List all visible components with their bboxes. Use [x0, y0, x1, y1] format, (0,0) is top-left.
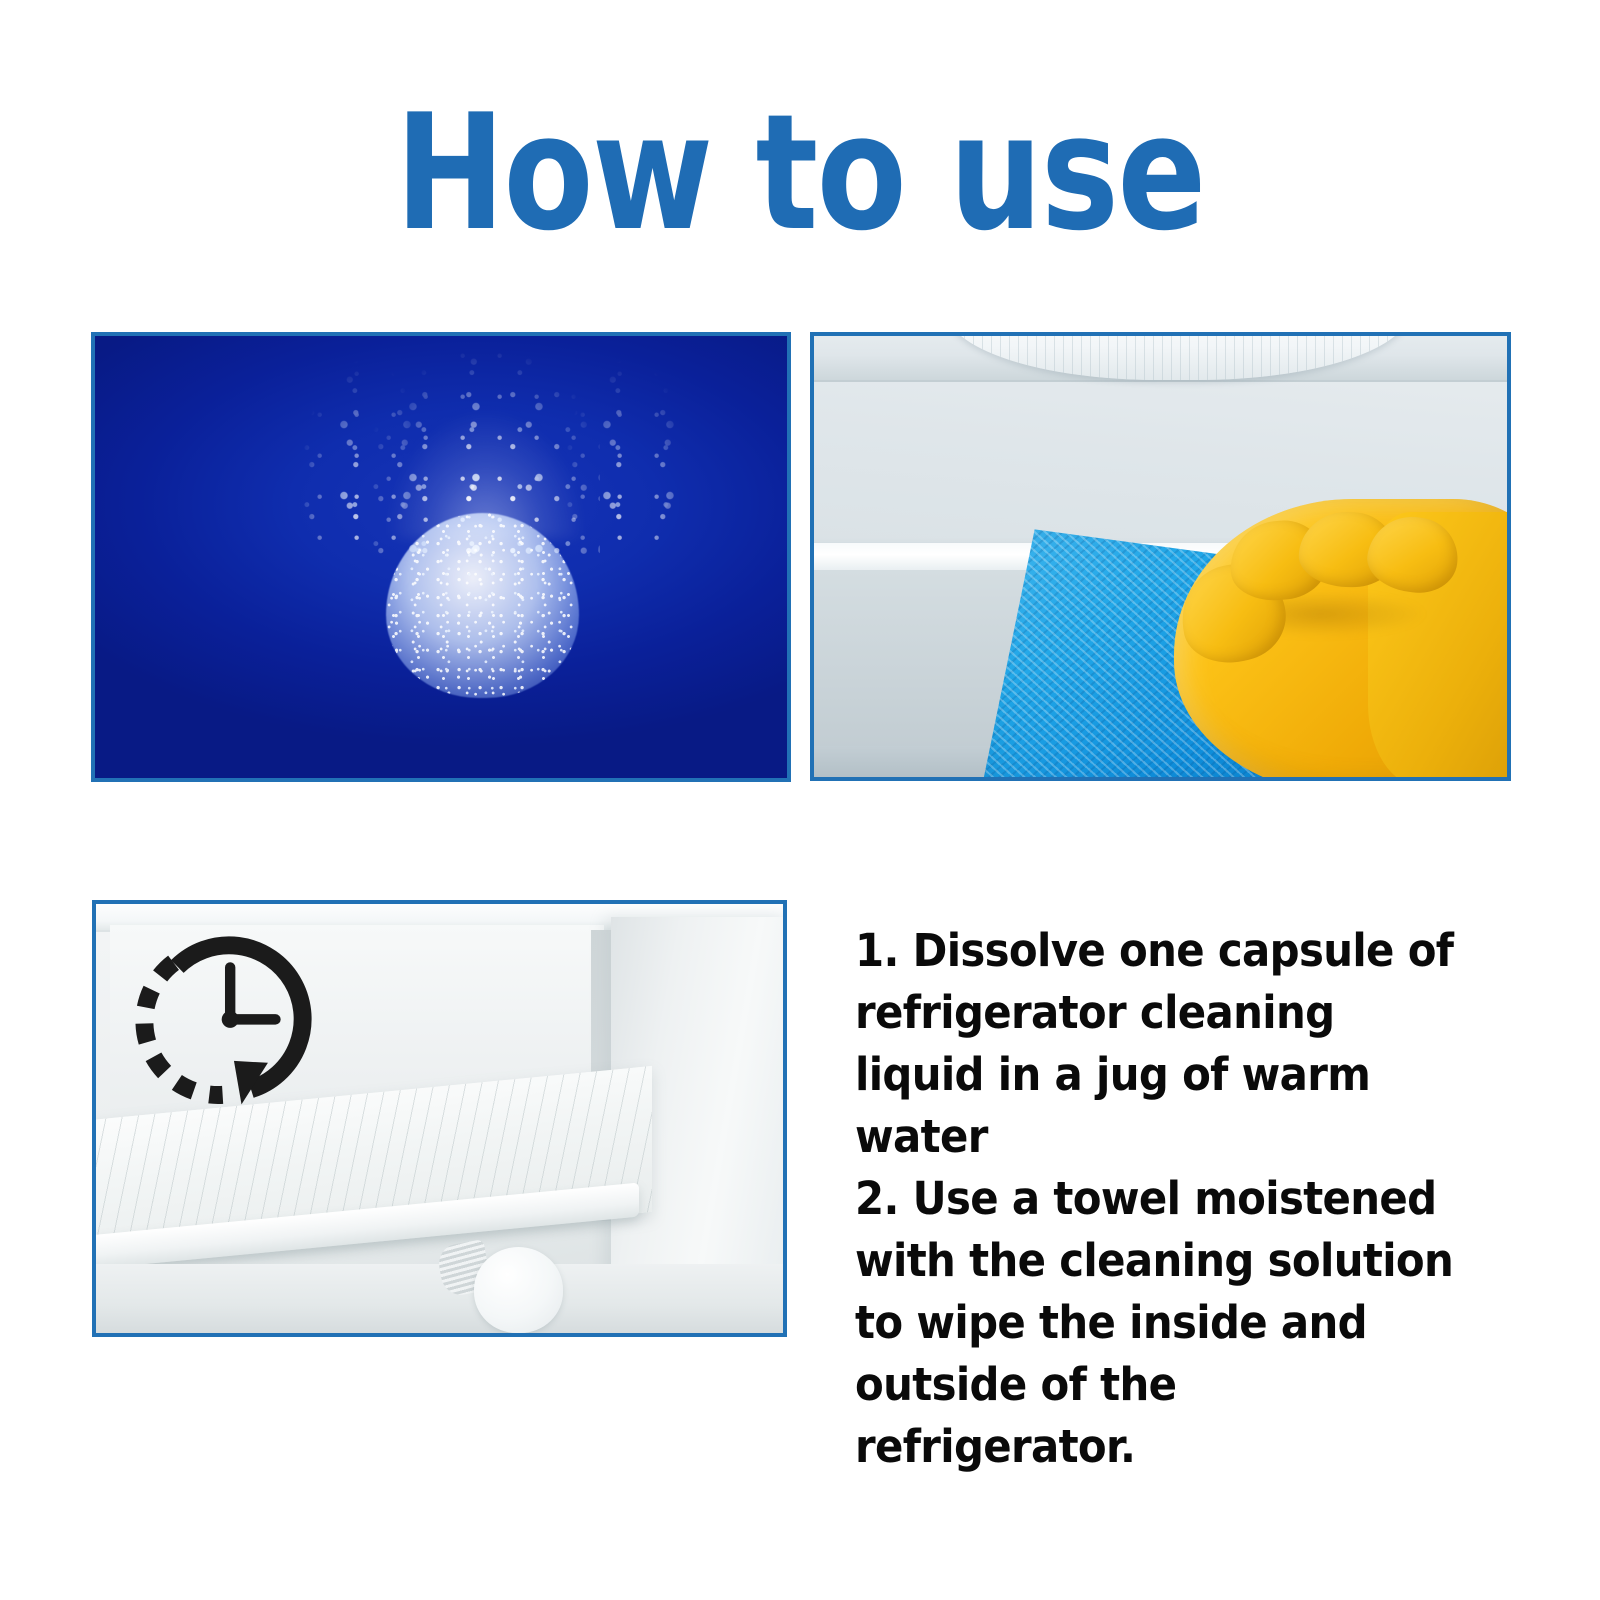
- fridge-lower-compartment: [96, 1264, 783, 1333]
- instruction-step-1: 1. Dissolve one capsule of refrigerator …: [855, 920, 1469, 1168]
- clock-rotate-icon: [134, 925, 326, 1114]
- page-title: How to use: [144, 88, 1456, 258]
- instruction-step-2: 2. Use a towel moistened with the cleani…: [855, 1168, 1469, 1478]
- fridge-light-bulb: [474, 1247, 563, 1333]
- image-panel-fridge-with-timer: Clean empty white refrigerator interior …: [92, 900, 787, 1337]
- image-panel-effervescent-capsule: A white effervescent cleaning capsule di…: [91, 332, 791, 782]
- instructions-block: 1. Dissolve one capsule of refrigerator …: [855, 920, 1469, 1478]
- image-panel-wiping-fridge: A hand in a yellow rubber glove wiping a…: [810, 332, 1511, 781]
